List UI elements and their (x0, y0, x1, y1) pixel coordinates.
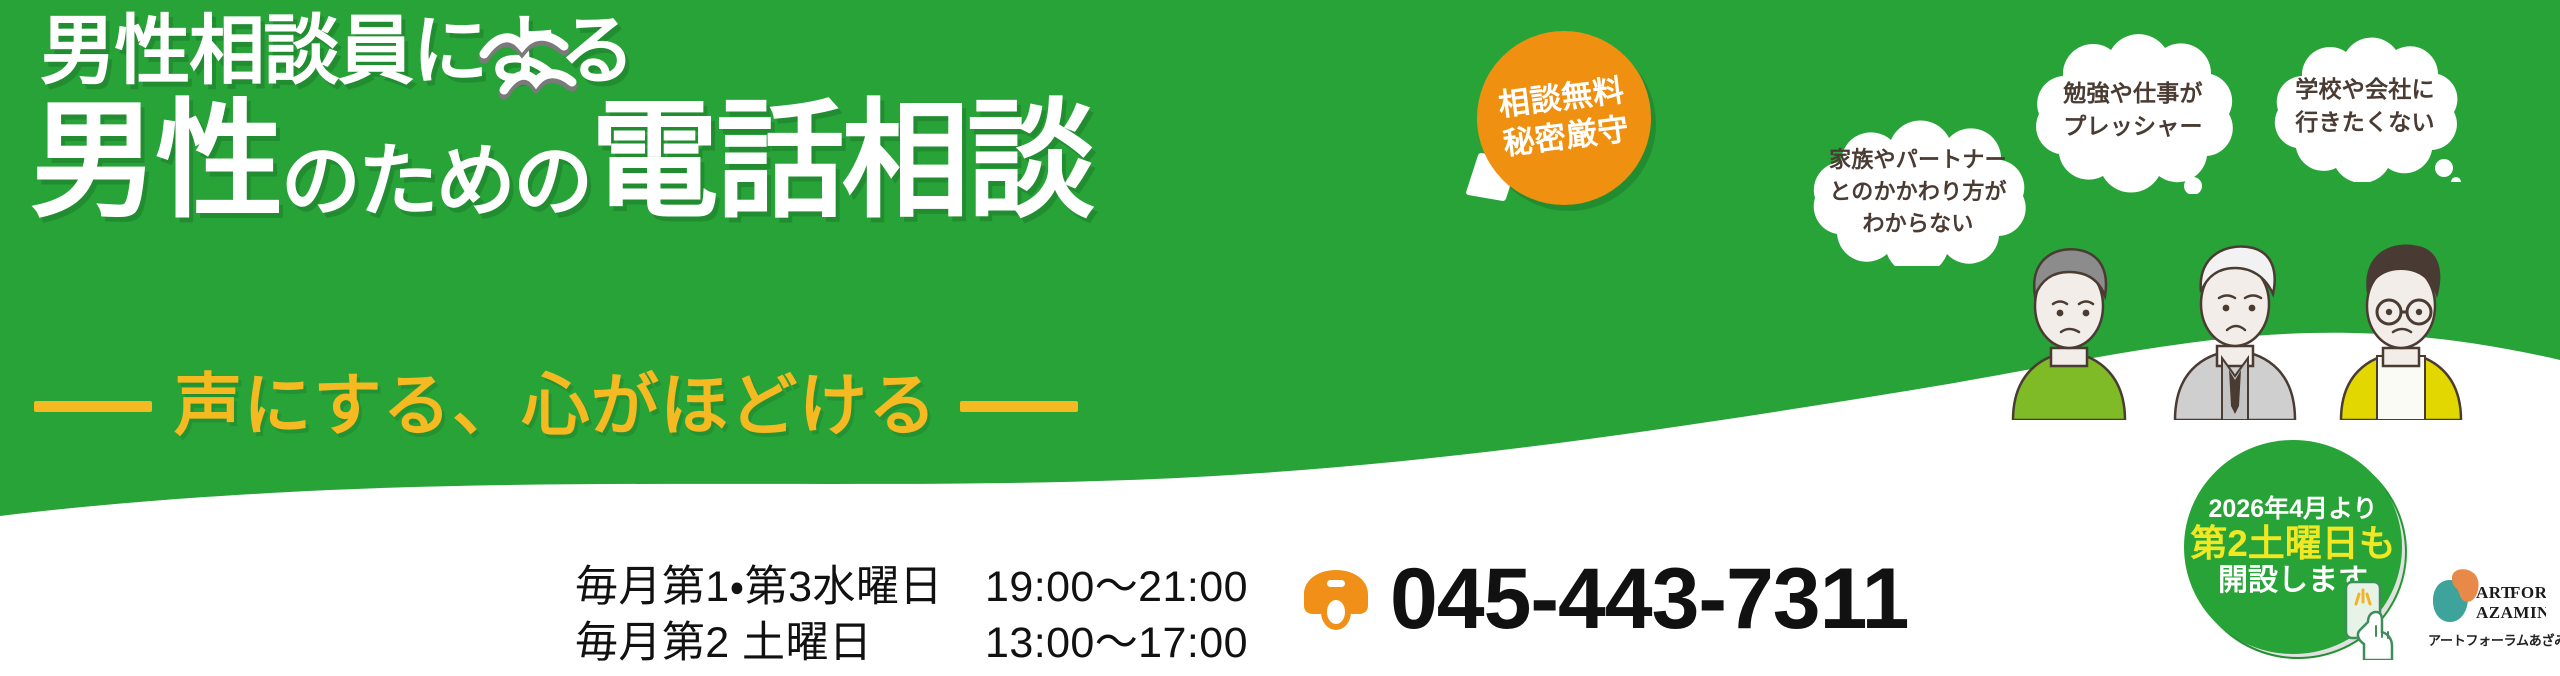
person-man-with-glasses (2341, 245, 2461, 420)
schedule-days-2: 毎月第2 土曜日 (575, 616, 985, 672)
thought-bubble-family: 家族やパートナー とのかかわり方が わからない (1787, 118, 2049, 266)
bubble-family-line-2: とのかかわり方が (1829, 176, 2007, 208)
headline-denwasoudan: 電話相談 (591, 98, 1093, 226)
schedule-row: 毎月第2 土曜日 13:00〜17:00 (575, 616, 1248, 672)
bubble-family-line-3: わからない (1862, 208, 1973, 240)
bubble-work-line-1: 勉強や仕事が (2063, 77, 2202, 110)
bubble-work-line-2: プレッシャー (2063, 110, 2202, 143)
schedule-days-1: 毎月第1・第3水曜日 (575, 560, 985, 616)
person-young-man (2013, 249, 2125, 420)
tagline: 声にする、心がほどける (34, 372, 1078, 440)
svg-text:AZAMINO: AZAMINO (2476, 603, 2546, 622)
announcement-line-1: 2026年4月より (2208, 496, 2377, 523)
logo-subtitle: アートフォーラムあざみ野 (2428, 630, 2546, 649)
telephone-number[interactable]: 045-443-7311 (1390, 556, 1908, 642)
bubble-school-line-1: 学校や会社に (2295, 73, 2434, 106)
logo[interactable]: ART FORUM AZAMINO アートフォーラムあざみ野 (2428, 566, 2546, 664)
badge-text: 相談無料 秘密厳守 (1467, 21, 1661, 215)
art-forum-azamino-logo-icon: ART FORUM AZAMINO (2428, 568, 2546, 630)
headline-notameno: のための (281, 142, 591, 222)
tagline-text: 声にする、心がほどける (174, 372, 938, 440)
schedule-hours-1: 19:00〜21:00 (985, 560, 1248, 616)
bubble-family-line-1: 家族やパートナー (1829, 144, 2007, 176)
bubble-family-text: 家族やパートナー とのかかわり方が わからない (1787, 118, 2049, 266)
banner-root: 男性相談員による 男性 のための 電話相談 声にする、心がほどける 相談無料 秘… (0, 0, 2560, 676)
announcement-line-2: 第2土曜日も (2190, 524, 2396, 564)
svg-text:ART: ART (2476, 583, 2513, 602)
thought-bubble-school: 学校や会社に 行きたくない (2258, 30, 2472, 182)
tagline-rule-left (34, 401, 152, 412)
schedule-row: 毎月第1・第3水曜日 19:00〜21:00 (575, 560, 1248, 616)
telephone-icon (1300, 566, 1372, 632)
schedule-info: 毎月第1・第3水曜日 19:00〜21:00 毎月第2 土曜日 13:00〜17… (575, 560, 1248, 672)
tagline-rule-right (960, 401, 1078, 412)
svg-text:FORUM: FORUM (2510, 583, 2546, 602)
smartphone-hand-icon (2328, 578, 2406, 660)
thought-bubble-work: 勉強や仕事が プレッシャー (2015, 26, 2251, 194)
headline-line-2: 男性 のための 電話相談 (30, 98, 1030, 226)
bubble-school-line-2: 行きたくない (2295, 106, 2434, 139)
headline-danse i: 男性 (30, 98, 281, 226)
telephone-block[interactable]: 045-443-7311 (1300, 556, 1908, 642)
free-consultation-badge: 相談無料 秘密厳守 (1477, 31, 1651, 205)
person-elderly-man (2175, 247, 2295, 420)
people-illustration (1995, 180, 2495, 420)
bubble-school-text: 学校や会社に 行きたくない (2258, 30, 2472, 182)
bubble-work-text: 勉強や仕事が プレッシャー (2015, 26, 2251, 194)
announcement-badge: 2026年4月より 第2土曜日も 開設します (2184, 440, 2402, 654)
schedule-hours-2: 13:00〜17:00 (985, 616, 1248, 672)
birds-icon (478, 28, 588, 104)
